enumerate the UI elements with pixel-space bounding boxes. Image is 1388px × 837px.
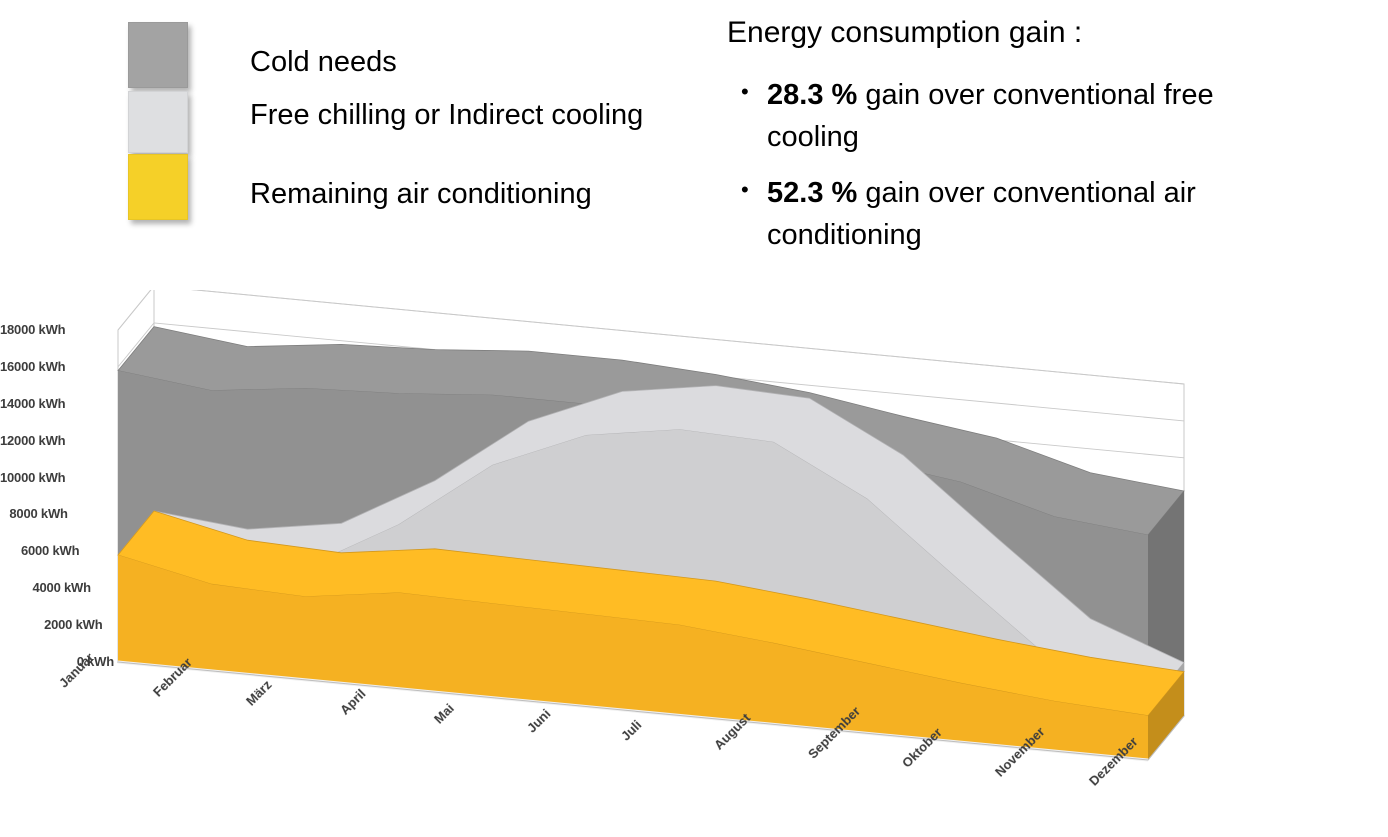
y-axis-tick-label: 18000 kWh — [0, 322, 10, 337]
energy-gain-block: Energy consumption gain : • 28.3 % gain … — [727, 14, 1287, 270]
legend-swatch-remaining-air-conditioning — [128, 154, 188, 220]
y-axis-tick-label: 10000 kWh — [0, 470, 56, 485]
chart-legend: Cold needs Free chilling or Indirect coo… — [128, 22, 688, 224]
y-axis-tick-label: 16000 kWh — [0, 359, 22, 374]
stacked-area-chart-3d: 18000 kWh16000 kWh14000 kWh12000 kWh1000… — [0, 290, 1388, 837]
gain-bullet-1-text: 28.3 % gain over conventional free cooli… — [767, 74, 1237, 158]
gain-bullet-2: • 52.3 % gain over conventional air cond… — [727, 172, 1287, 256]
legend-item-remaining-air-conditioning: Remaining air conditioning — [128, 154, 688, 220]
gain-bullet-1: • 28.3 % gain over conventional free coo… — [727, 74, 1287, 158]
energy-gain-title: Energy consumption gain : — [727, 14, 1287, 52]
y-axis-tick-label: 14000 kWh — [0, 396, 33, 411]
legend-swatch-free-chilling — [128, 91, 188, 153]
y-axis-tick-label: 8000 kWh — [0, 506, 68, 521]
gain-bullet-2-value: 52.3 % — [767, 177, 857, 209]
gain-bullet-1-value: 28.3 % — [767, 79, 857, 111]
bullet-dot-icon: • — [727, 74, 767, 158]
bullet-dot-icon: • — [727, 172, 767, 256]
y-axis-tick-label: 12000 kWh — [0, 433, 45, 448]
y-axis-tick-label: 2000 kWh — [0, 617, 102, 632]
legend-label-remaining-air-conditioning: Remaining air conditioning — [250, 154, 592, 216]
chart-canvas — [0, 290, 1388, 837]
legend-item-cold-needs: Cold needs — [128, 22, 688, 88]
legend-label-cold-needs: Cold needs — [250, 22, 397, 84]
y-axis-tick-label: 6000 kWh — [0, 543, 79, 558]
y-axis-tick-label: 0 kWh — [0, 654, 114, 669]
legend-item-free-chilling: Free chilling or Indirect cooling — [128, 91, 688, 153]
y-axis-tick-label: 4000 kWh — [0, 580, 91, 595]
gain-bullet-2-text: 52.3 % gain over conventional air condit… — [767, 172, 1237, 256]
legend-label-free-chilling: Free chilling or Indirect cooling — [250, 91, 643, 137]
legend-swatch-cold-needs — [128, 22, 188, 88]
